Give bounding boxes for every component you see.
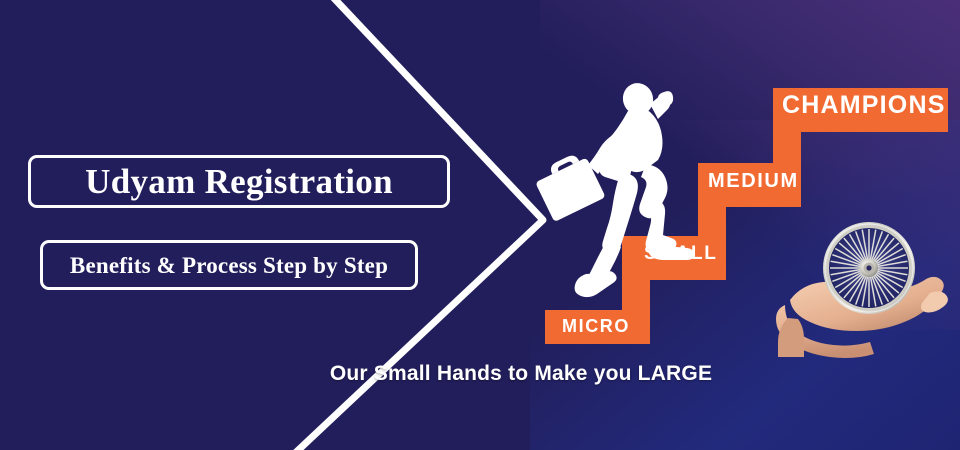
step-label-champions: CHAMPIONS bbox=[782, 93, 946, 118]
tagline: Our Small Hands to Make you LARGE bbox=[0, 362, 960, 386]
udyam-registration-banner: Udyam Registration Benefits & Process St… bbox=[0, 0, 960, 450]
step-label-small: SMALL bbox=[644, 244, 717, 263]
spoked-chakra-wheel-icon bbox=[823, 222, 915, 314]
hand-holding-wheel-illustration bbox=[776, 222, 948, 358]
step-label-micro: MICRO bbox=[562, 317, 630, 335]
tagline-text: Our Small Hands to Make you LARGE bbox=[248, 362, 712, 385]
step-label-medium: MEDIUM bbox=[708, 171, 799, 191]
